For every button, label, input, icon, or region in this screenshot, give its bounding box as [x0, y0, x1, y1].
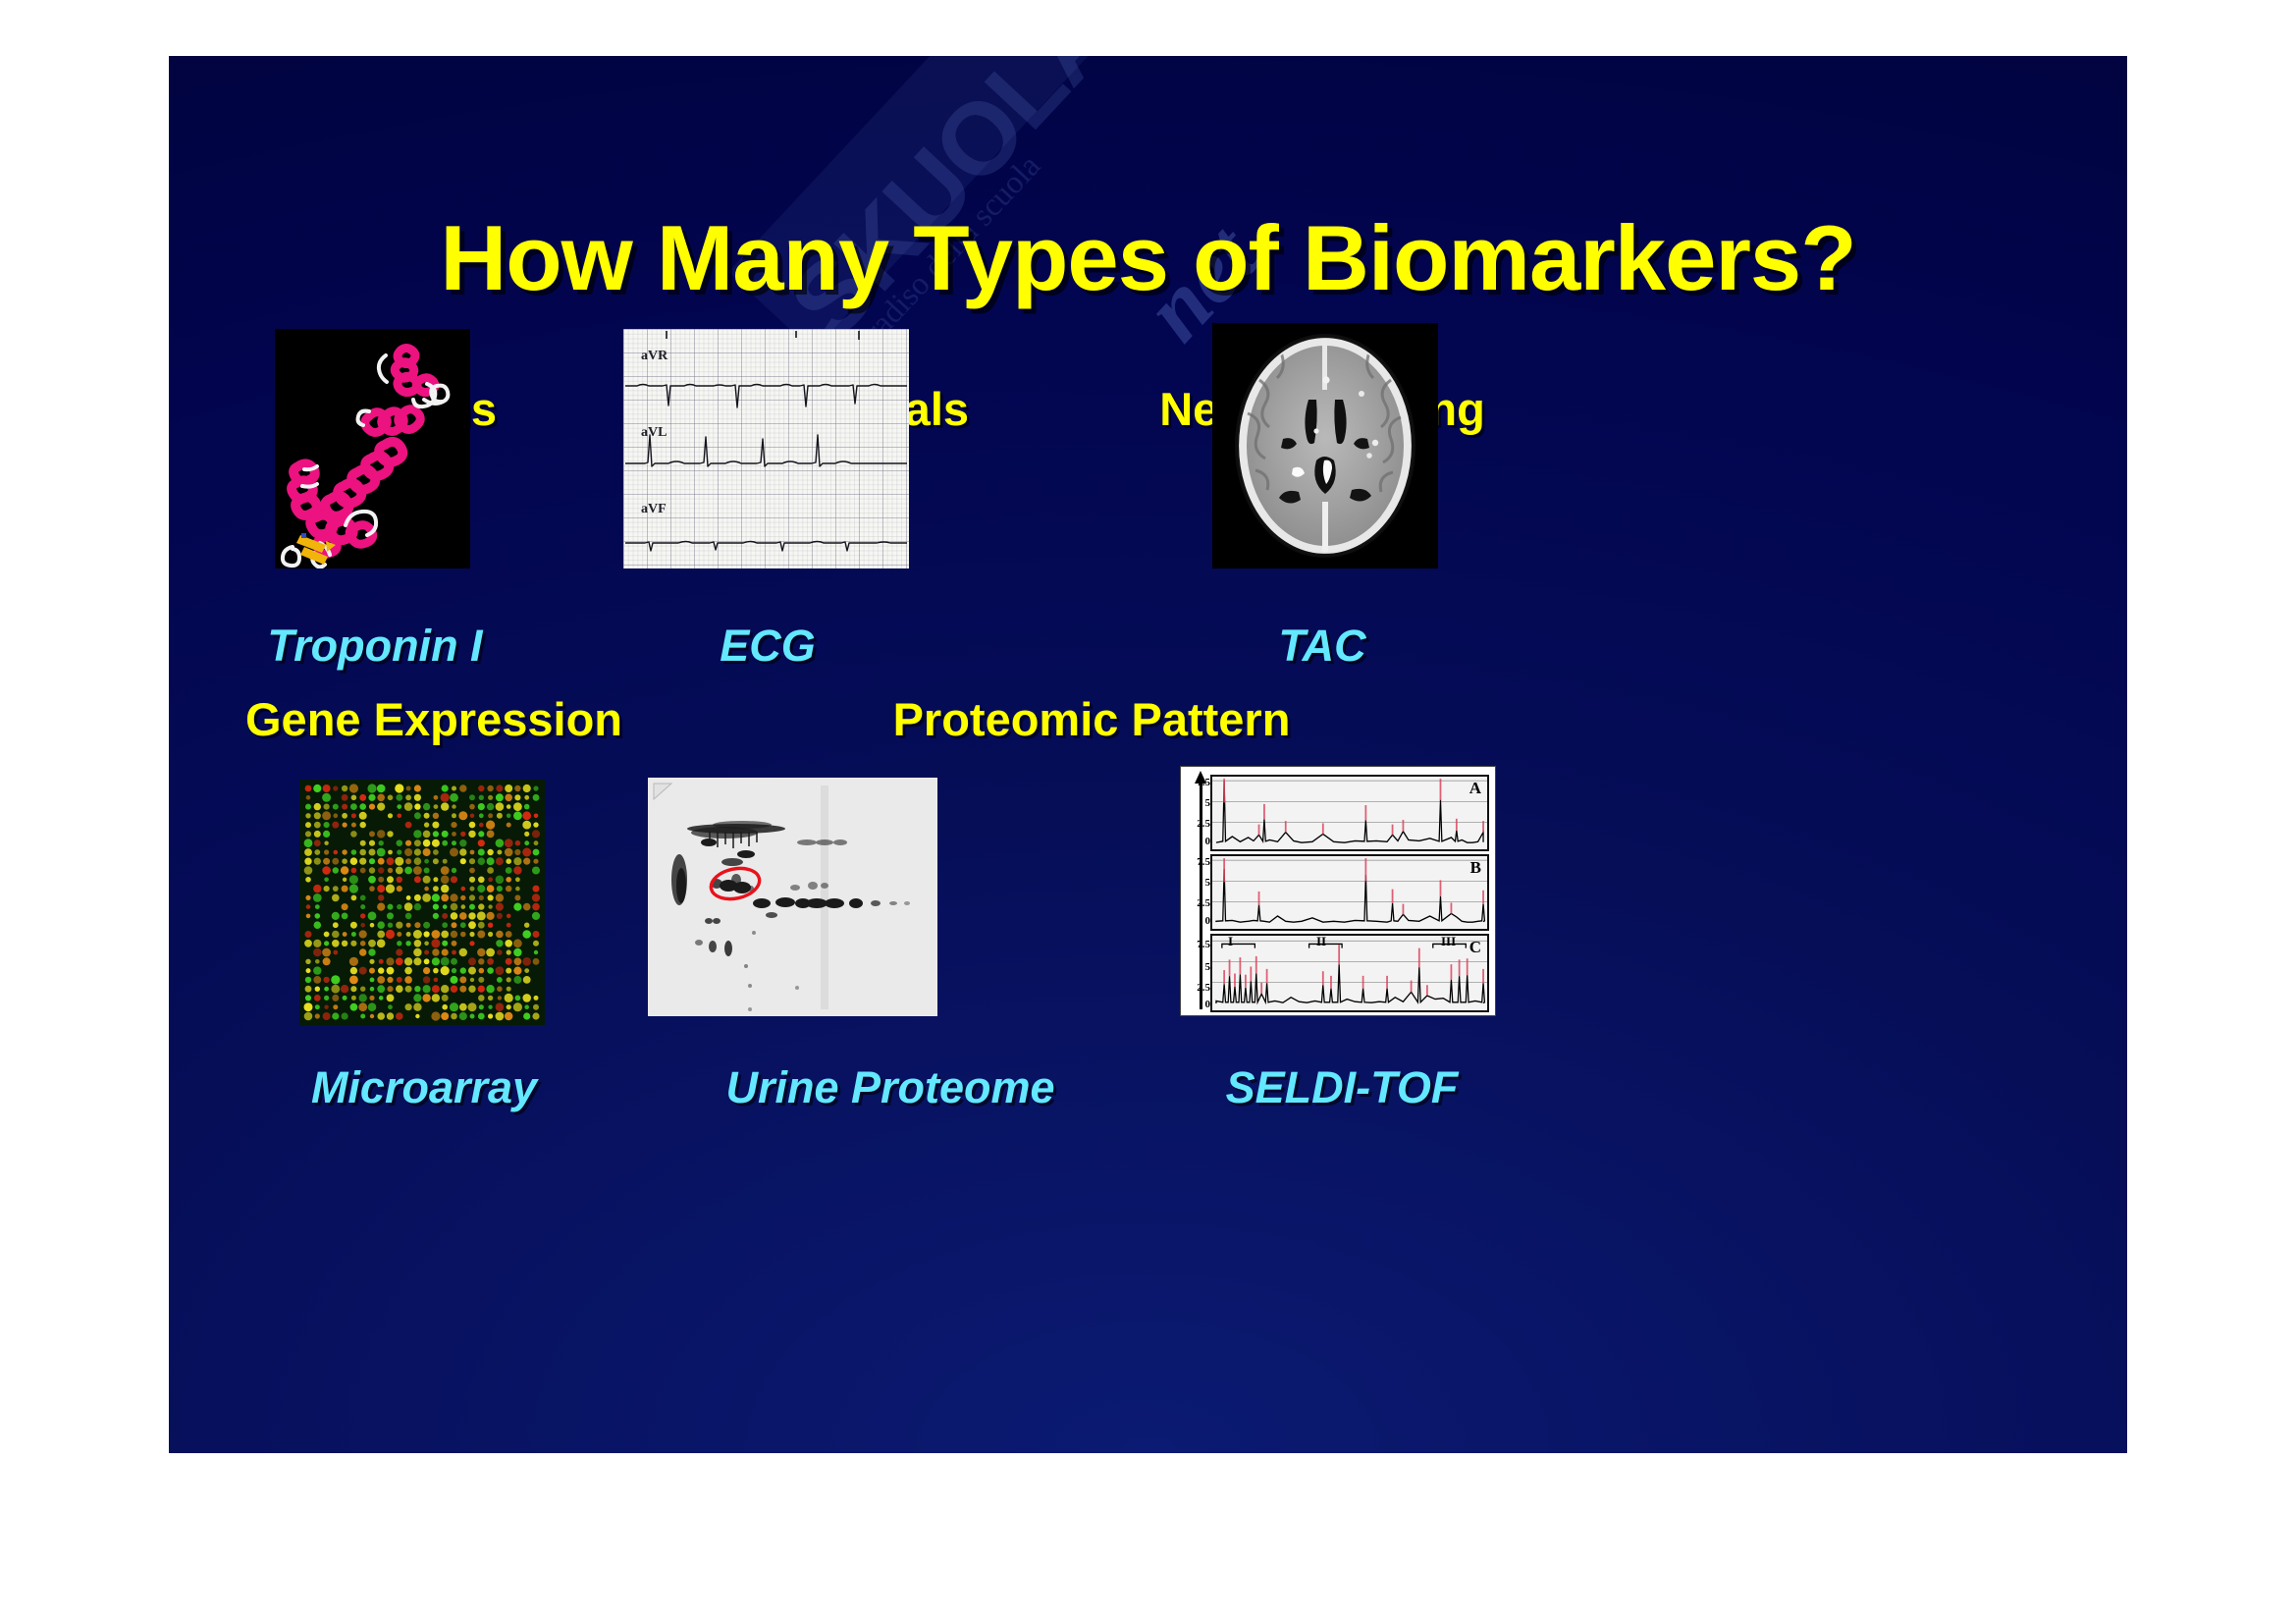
caption-ecg: ECG	[660, 621, 876, 672]
seldi-c-ytick-25: 2.5	[1187, 982, 1210, 994]
seldi-axis-line	[1200, 781, 1202, 1009]
seldi-tof-spectra-image: A 7.5 5 2.5 0 B	[1180, 766, 1496, 1016]
seldi-a-ytick-0: 0	[1187, 836, 1210, 847]
seldi-b-ytick-25: 2.5	[1187, 897, 1210, 909]
seldi-panel-b: B	[1210, 854, 1489, 931]
seldi-bracket-ii: II	[1316, 934, 1326, 949]
ct-brain-scan-image	[1212, 323, 1438, 568]
ecg-strip-image: aVR aVL aVF	[623, 329, 909, 568]
slide-canvas: SKUOLA net il paradiso della scuola How …	[169, 56, 2127, 1453]
seldi-panel-a: A	[1210, 775, 1489, 851]
caption-troponin-i: Troponin I	[179, 621, 571, 672]
seldi-b-ytick-75: 7.5	[1187, 856, 1210, 868]
caption-seldi-tof: SELDI-TOF	[1150, 1062, 1533, 1113]
seldi-bracket-iii: III	[1441, 934, 1456, 949]
caption-microarray: Microarray	[179, 1062, 669, 1113]
seldi-c-ytick-0: 0	[1187, 999, 1210, 1010]
seldi-bracket-i: I	[1228, 934, 1233, 949]
seldi-c-ytick-75: 7.5	[1187, 939, 1210, 950]
seldi-c-ytick-5: 5	[1187, 961, 1210, 973]
seldi-a-ytick-5: 5	[1187, 797, 1210, 809]
seldi-a-ytick-75: 7.5	[1187, 777, 1210, 788]
microarray-image	[299, 780, 545, 1025]
caption-urine-proteome: Urine Proteome	[674, 1062, 1106, 1113]
heading-proteomic-pattern: Proteomic Pattern	[797, 692, 1386, 746]
slide-title: How Many Types of Biomarkers?	[169, 205, 2127, 311]
seldi-b-ytick-0: 0	[1187, 915, 1210, 927]
protein-ribbon-image	[275, 329, 470, 568]
seldi-b-ytick-5: 5	[1187, 877, 1210, 889]
seldi-a-ytick-25: 2.5	[1187, 818, 1210, 830]
two-d-gel-image	[648, 778, 937, 1016]
caption-tac: TAC	[1214, 621, 1430, 672]
heading-gene-expression: Gene Expression	[179, 692, 689, 746]
